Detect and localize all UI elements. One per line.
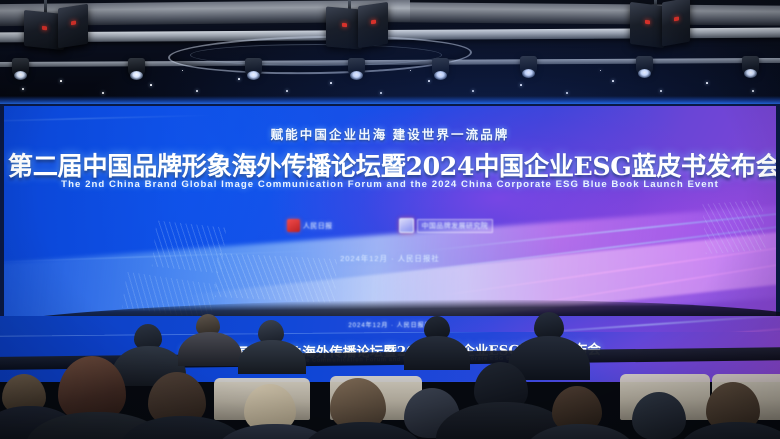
organizer-logo-secondary-label: 中国品牌发展研究院: [417, 219, 494, 233]
screen-subheadline: The 2nd China Brand Global Image Communi…: [4, 179, 776, 190]
audience-person-shoulders: [0, 406, 82, 439]
screen-date-line: 2024年12月 · 人民日报社: [4, 254, 776, 264]
institute-emblem-icon: [399, 218, 414, 233]
audience-person-head: [244, 384, 296, 432]
audience-person-shoulders: [436, 402, 572, 439]
red-seal-icon: [287, 219, 300, 232]
audience-person-shoulders: [302, 422, 424, 439]
main-led-screen-frame: 赋能中国企业出海 建设世界一流品牌 第二届中国品牌形象海外传播论坛暨2024中国…: [0, 104, 780, 318]
main-led-screen: 赋能中国企业出海 建设世界一流品牌 第二届中国品牌形象海外传播论坛暨2024中国…: [4, 106, 776, 316]
seat-back: [330, 376, 422, 420]
audience-person-head: [706, 382, 760, 432]
screen-tagline: 赋能中国企业出海 建设世界一流品牌: [4, 124, 776, 143]
audience-person-head: [330, 378, 386, 430]
audience-person-shoulders: [26, 412, 168, 439]
lower-band-date-line: 2024年12月 · 人民日报社: [0, 320, 780, 329]
screen-headline: 第二届中国品牌形象海外传播论坛暨2024中国企业ESG蓝皮书发布会: [8, 146, 772, 183]
audience-person-head: [404, 388, 460, 438]
seat-back: [214, 378, 310, 420]
audience-person-shoulders: [678, 422, 780, 439]
organizer-logo-secondary: 中国品牌发展研究院: [399, 218, 494, 233]
ceiling-ambient-glow: [0, 0, 780, 108]
lower-banner-panel: 第二届中国品牌形象海外传播论坛暨2024中国企业ESG蓝皮书发布会 The 2n…: [0, 332, 780, 382]
audience-person-head: [552, 386, 602, 432]
audience-person-head: [632, 392, 686, 439]
screen-logo-row: 人民日报 中国品牌发展研究院: [4, 218, 776, 233]
audience-person-shoulders: [524, 424, 636, 439]
ceiling-area: [0, 0, 780, 108]
screenshot-root: 赋能中国企业出海 建设世界一流品牌 第二届中国品牌形象海外传播论坛暨2024中国…: [0, 0, 780, 439]
audience-person-shoulders: [120, 416, 246, 439]
organizer-logo-primary: 人民日报: [287, 219, 333, 232]
audience-person-shoulders: [216, 424, 334, 439]
lower-banner-strip: 第二届中国品牌形象海外传播论坛暨2024中国企业ESG蓝皮书发布会 The 2n…: [0, 332, 780, 382]
organizer-logo-primary-label: 人民日报: [303, 221, 333, 231]
